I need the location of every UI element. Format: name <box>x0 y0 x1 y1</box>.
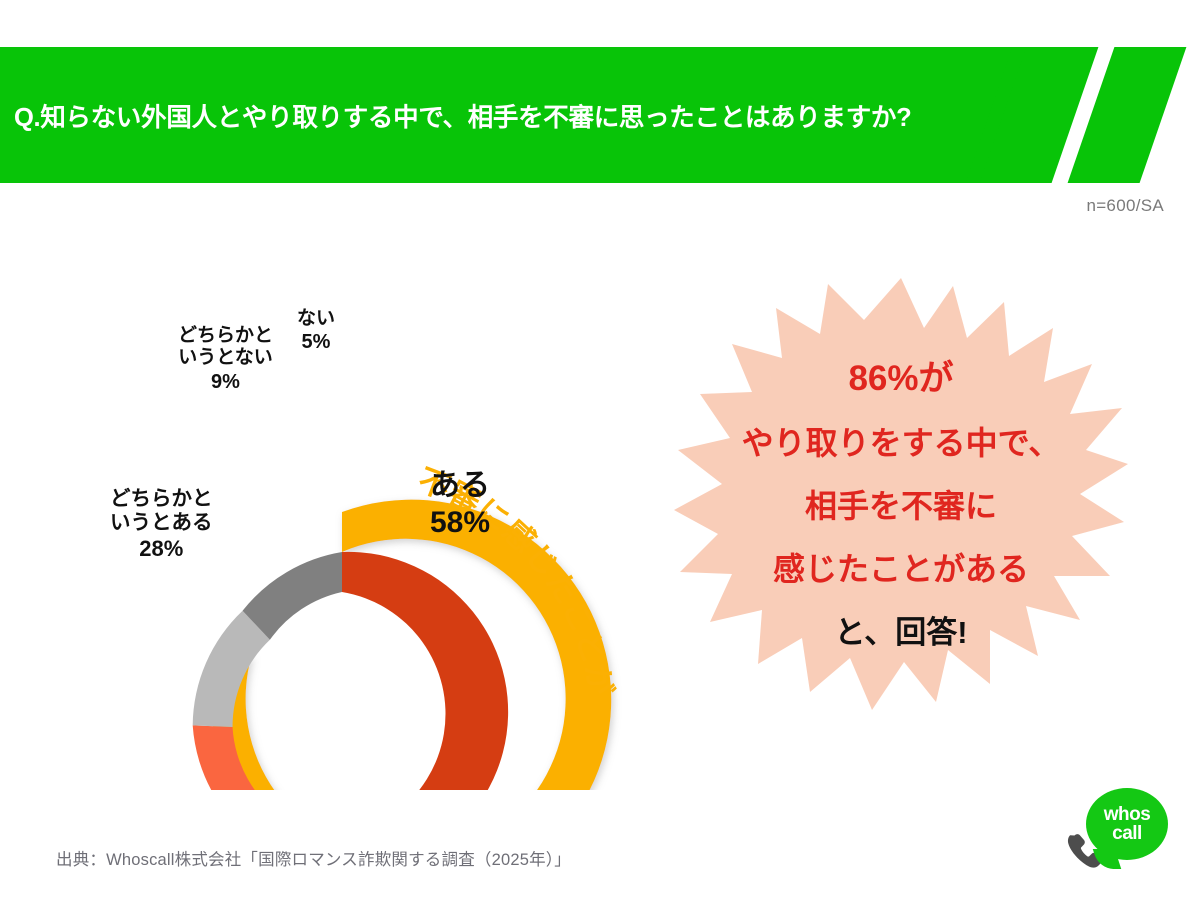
source-citation: 出典：Whoscall株式会社「国際ロマンス詐欺関する調査（2025年）」 <box>56 846 571 870</box>
slice-dochiraka-nai <box>193 611 270 727</box>
sample-size-note: n=600/SA <box>1086 196 1164 216</box>
slice-label-aru-name: ある <box>430 469 490 502</box>
starburst-text-block: 86%が やり取りをする中で、 相手を不審に 感じたことがある と、回答! <box>672 272 1130 730</box>
callout-line-2: やり取りをする中で、 <box>742 418 1061 464</box>
whoscall-logo: whos call <box>1062 788 1172 884</box>
slice-label-nai-name: ない <box>297 308 335 329</box>
outer-ring-label: 不審に感じたことがある <box>100 250 619 712</box>
slice-label-dochiraka-aru-line2: いうとある <box>110 511 213 534</box>
outer-ring-arc <box>211 500 611 790</box>
logo-text-line2: call <box>1112 824 1142 843</box>
slice-label-dochiraka-aru-line1: どちらかと <box>110 487 213 510</box>
slice-label-dochiraka-nai-line2: いうとない <box>178 347 272 368</box>
slice-label-nai-value: 5% <box>297 331 335 355</box>
slice-label-dochiraka-nai-value: 9% <box>178 371 273 395</box>
logo-text-line1: whos <box>1104 805 1151 824</box>
slice-label-dochiraka-aru: どちらかと いうとある 28% <box>110 487 213 562</box>
outer-ring-label-text: 不審に感じたことがある <box>100 250 619 699</box>
header-banner: Q.知らない外国人とやり取りする中で、相手を不審に思ったことはありますか? <box>0 47 1200 183</box>
callout-line-1: 86%が <box>848 350 953 401</box>
starburst-callout: 86%が やり取りをする中で、 相手を不審に 感じたことがある と、回答! <box>672 272 1130 730</box>
slice-label-dochiraka-nai: どちらかと いうとない 9% <box>178 325 273 394</box>
callout-line-3: 相手を不審に <box>805 481 997 527</box>
callout-line-4: 感じたことがある <box>773 544 1029 590</box>
slice-label-aru: ある 58% <box>430 468 490 541</box>
donut-chart: 不審に感じたことがある ある 58% どちらかと いうとある 28% どちらかと… <box>100 250 660 790</box>
slice-label-dochiraka-nai-line1: どちらかと <box>178 325 273 346</box>
slice-label-dochiraka-aru-value: 28% <box>110 536 213 562</box>
logo-speech-bubble: whos call <box>1086 788 1168 860</box>
slice-label-nai: ない 5% <box>297 308 335 355</box>
callout-line-5: と、回答! <box>834 607 967 652</box>
slice-label-aru-value: 58% <box>430 505 490 540</box>
page-title: Q.知らない外国人とやり取りする中で、相手を不審に思ったことはありますか? <box>14 47 911 183</box>
